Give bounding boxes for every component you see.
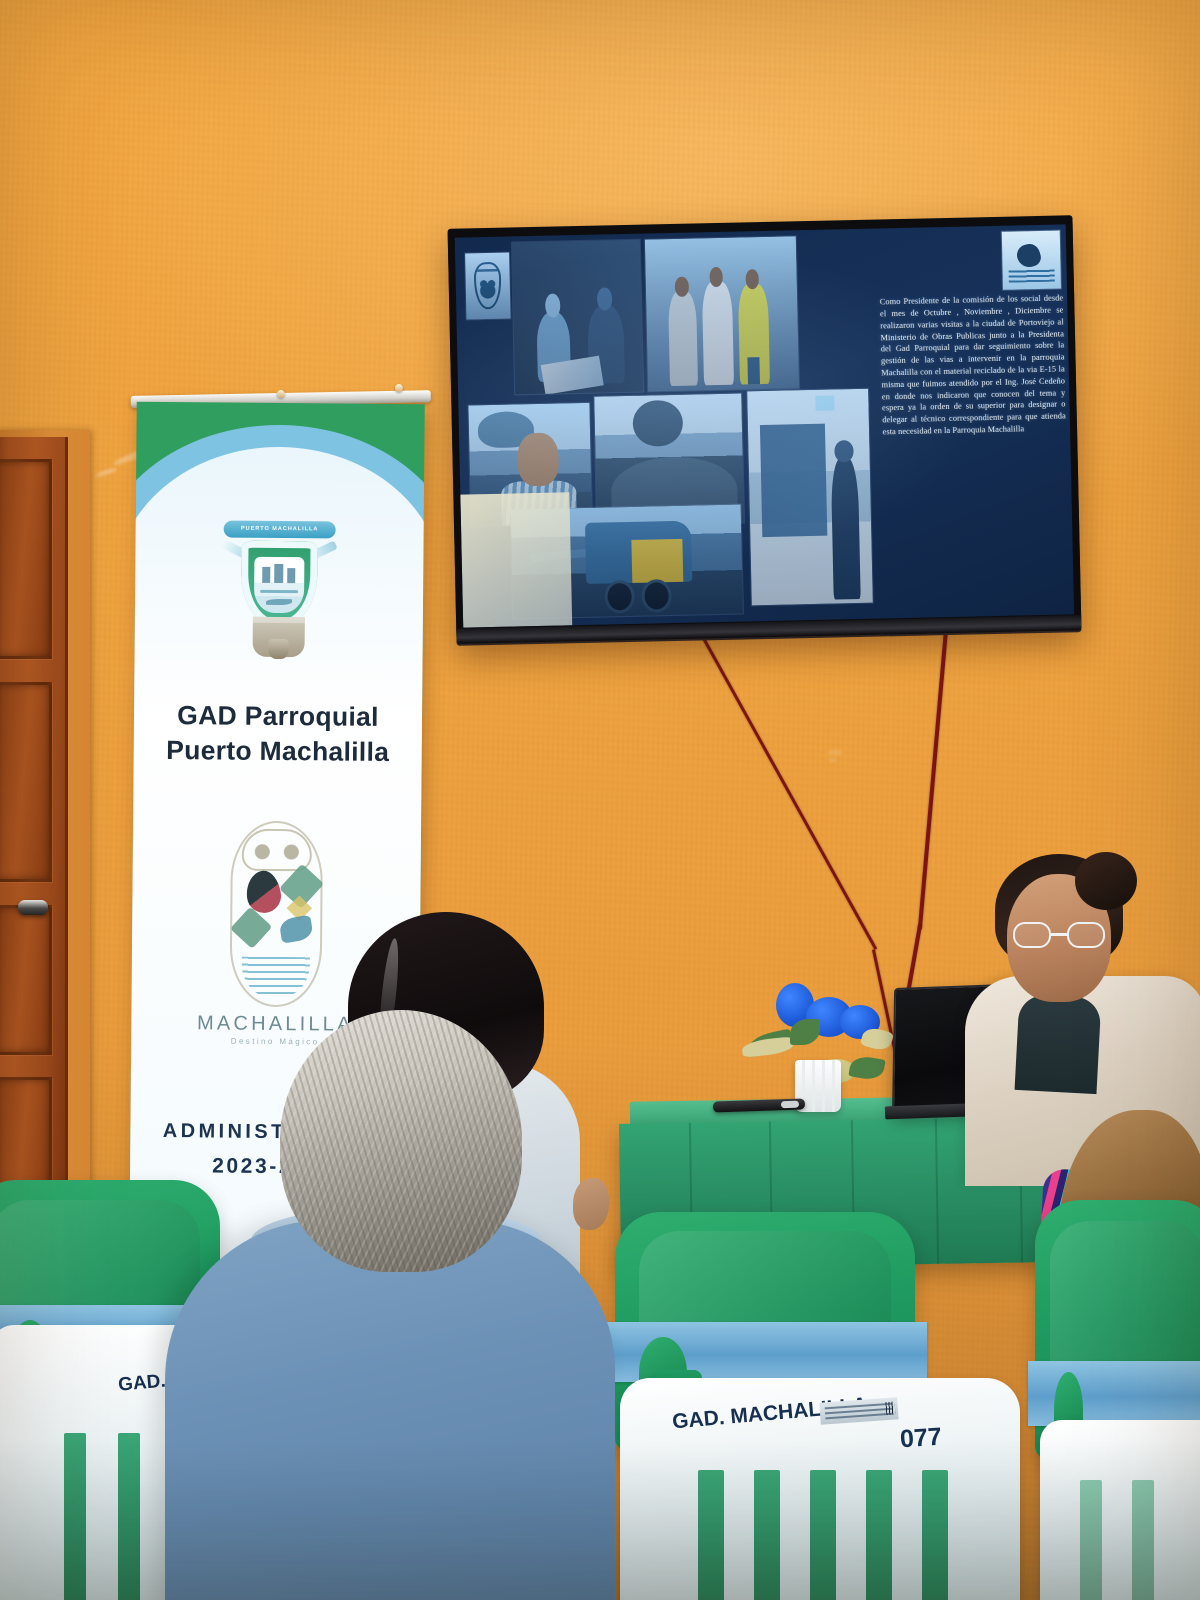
meeting-room-photo: Como Presidente de la comisión de los so… [0,0,1200,1600]
crest-ribbon-text: PUERTO MACHALILLA [224,521,336,539]
banner-title-line2: Puerto Machalilla [134,733,422,770]
door-handle[interactable] [18,900,48,915]
machalilla-brand-icon: MACHALILLA Destino Mágico [229,821,323,1008]
wooden-door[interactable] [0,437,68,1217]
banner-nail [277,390,285,398]
slide-photo-grid [455,229,882,628]
floor-shadow [0,1440,1200,1600]
photo-office-corridor [747,389,873,606]
gad-shield-logo-icon [465,252,510,319]
wall-scuff [828,758,837,762]
slide-text-column: Como Presidente de la comisión de los so… [873,224,1074,618]
wall-television[interactable]: Como Presidente de la comisión de los so… [448,215,1082,644]
slide-body-text: Como Presidente de la comisión de los so… [880,293,1066,438]
wall-scuff [828,750,842,755]
banner-title: GAD Parroquial Puerto Machalilla [134,698,423,770]
municipal-crest-icon: PUERTO MACHALILLA [219,520,340,661]
photo-meeting-desk [512,240,643,395]
screen-glare [460,493,572,628]
banner-title-line1: GAD Parroquial [134,698,422,735]
banner-nail [395,384,403,392]
photo-group-three [645,236,799,391]
presentation-slide: Como Presidente de la comisión de los so… [455,224,1074,627]
eyeglasses [1013,922,1105,948]
machalilla-bird-logo-icon [1002,230,1061,290]
